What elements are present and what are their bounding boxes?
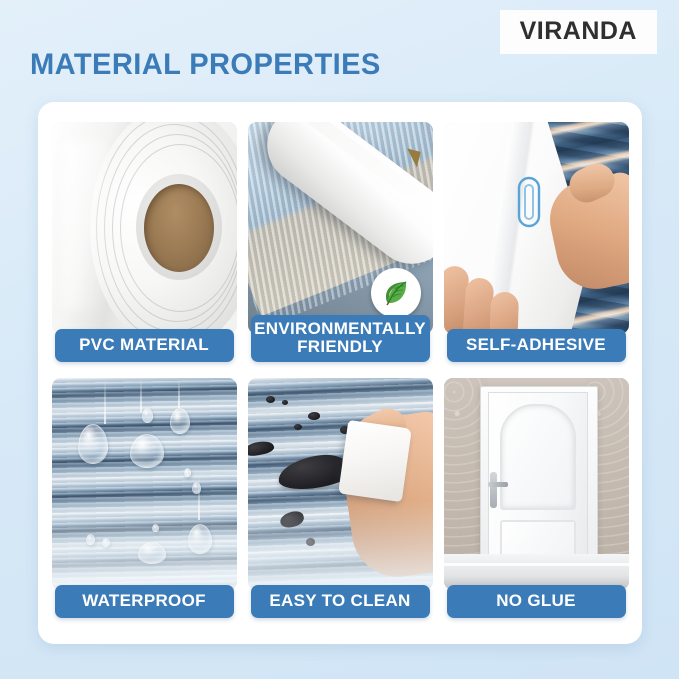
paperclip-icon	[514, 174, 544, 235]
feature-card-environmentally-friendly[interactable]: ENVIRONMENTALLY FRIENDLY	[248, 122, 433, 362]
features-grid: PVC MATERIAL	[52, 122, 628, 618]
feature-image-environmentally-friendly	[248, 122, 433, 334]
feature-label-waterproof: WATERPROOF	[55, 585, 234, 618]
leaf-icon	[371, 268, 421, 318]
feature-card-waterproof[interactable]: WATERPROOF	[52, 378, 237, 618]
features-panel: PVC MATERIAL	[38, 102, 642, 644]
feature-card-no-glue[interactable]: NO GLUE	[444, 378, 629, 618]
page-title: MATERIAL PROPERTIES	[30, 50, 381, 80]
feature-label-line2: FRIENDLY	[297, 337, 383, 356]
feature-label-self-adhesive: SELF-ADHESIVE	[447, 329, 626, 362]
feature-label-environmentally-friendly: ENVIRONMENTALLY FRIENDLY	[251, 315, 430, 362]
brand-logo: VIRANDA	[500, 10, 657, 54]
feature-label-no-glue: NO GLUE	[447, 585, 626, 618]
feature-image-waterproof	[52, 378, 237, 590]
feature-label-line1: ENVIRONMENTALLY	[254, 319, 426, 338]
feature-card-self-adhesive[interactable]: SELF-ADHESIVE	[444, 122, 629, 362]
feature-card-pvc-material[interactable]: PVC MATERIAL	[52, 122, 237, 362]
feature-label-easy-to-clean: EASY TO CLEAN	[251, 585, 430, 618]
feature-image-easy-to-clean	[248, 378, 433, 590]
feature-label-pvc-material: PVC MATERIAL	[55, 329, 234, 362]
feature-image-self-adhesive	[444, 122, 629, 334]
feature-image-no-glue	[444, 378, 629, 590]
feature-image-pvc-material	[52, 122, 237, 334]
feature-card-easy-to-clean[interactable]: EASY TO CLEAN	[248, 378, 433, 618]
brand-name: VIRANDA	[520, 19, 637, 44]
page-header: MATERIAL PROPERTIES VIRANDA	[0, 0, 679, 100]
